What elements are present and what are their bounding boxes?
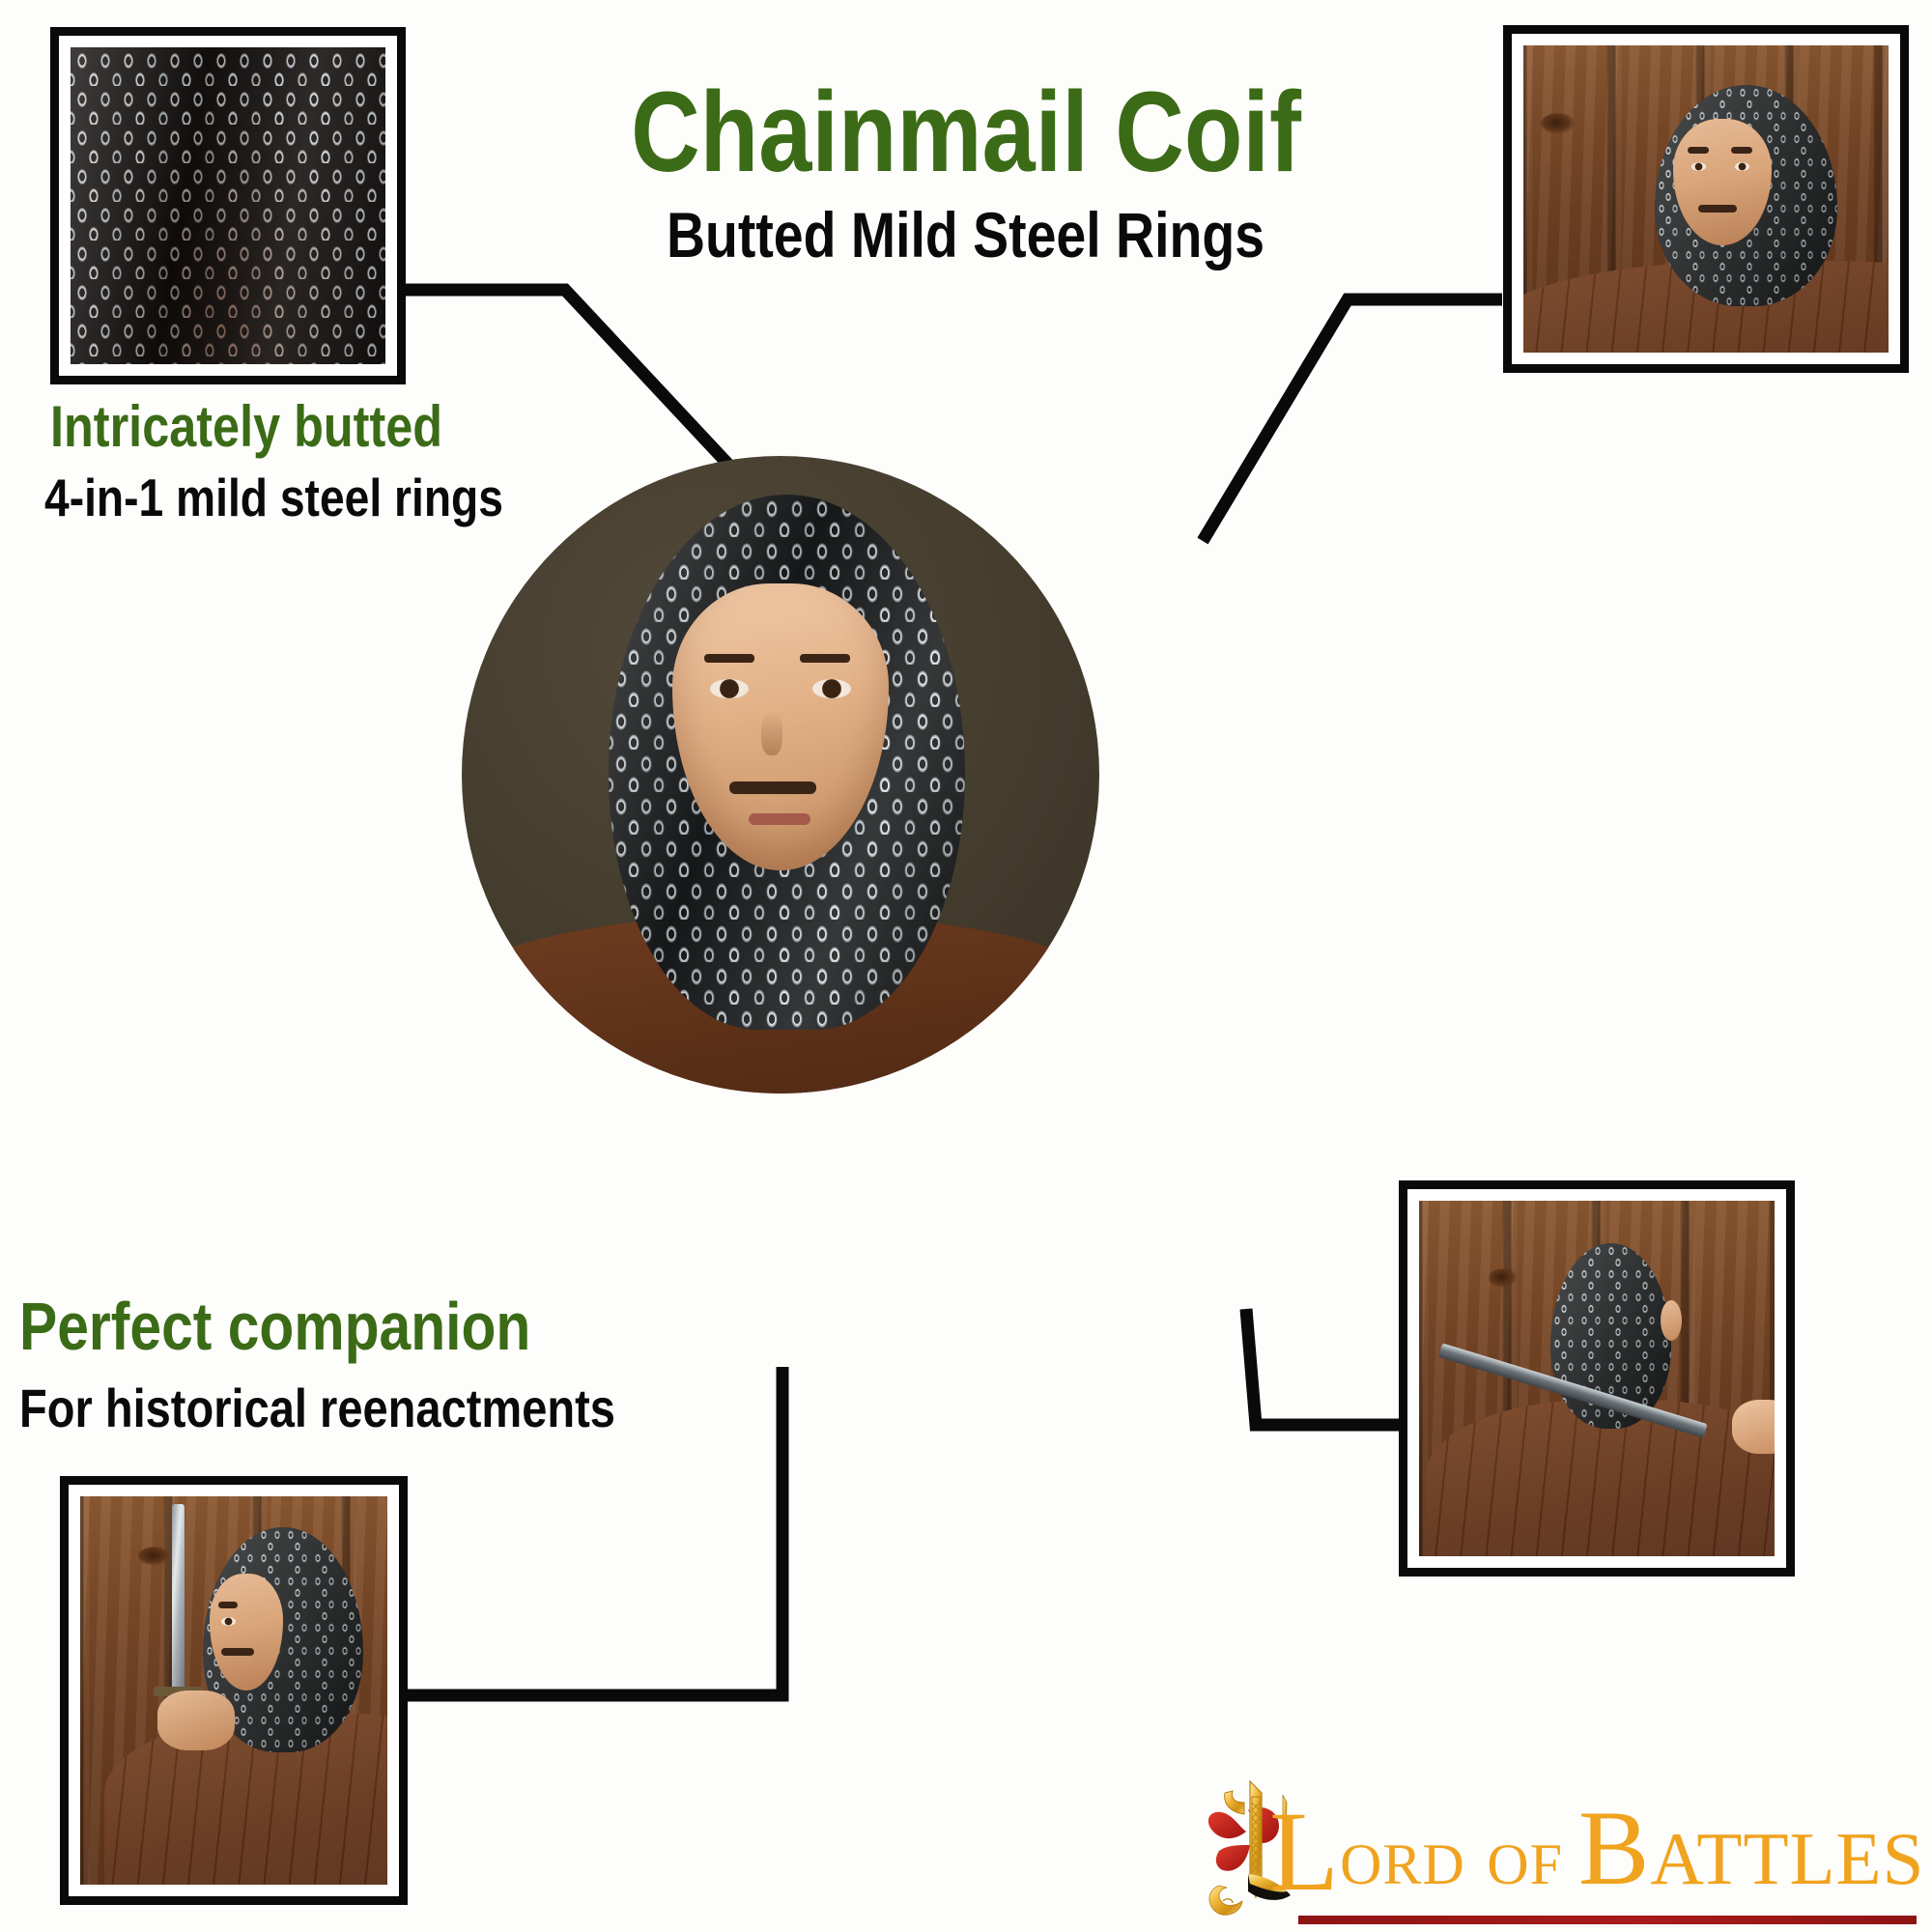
eyebrow-right	[1731, 147, 1752, 154]
callout-image-frame-intricately-butted	[50, 27, 406, 384]
reenactor-rear-view-with-sword	[1419, 1201, 1775, 1556]
logo-word-two: Battles	[1578, 1789, 1924, 1907]
photo-matte	[1512, 34, 1900, 364]
eye-left	[1691, 162, 1706, 171]
callout-subheading-perfect-companion: For historical reenactments	[19, 1381, 728, 1435]
logo-word-one: ord of	[1340, 1809, 1563, 1902]
callout-heading-intricately-butted: Intricately butted	[50, 398, 517, 456]
photo-matte	[69, 1485, 399, 1896]
sword-hand	[1732, 1400, 1775, 1454]
callout-heading-technically-devised: Technically devised	[1918, 1690, 1932, 1756]
logo-lead-letter: L	[1269, 1788, 1340, 1915]
photo-matte	[1407, 1189, 1786, 1568]
chainmail-texture	[71, 47, 385, 364]
callout-subheading-text: 4-in-1 mild steel rings	[44, 471, 503, 525]
hero-eyebrow-left	[704, 654, 754, 663]
logo-wordmark: Lord ofBattles	[1269, 1795, 1924, 1909]
connector-top-right	[1203, 299, 1502, 541]
moustache	[1698, 205, 1737, 213]
page-subtitle: Butted Mild Steel Rings	[386, 203, 1546, 267]
wood-knot	[138, 1547, 171, 1566]
eyebrow-left	[218, 1602, 238, 1608]
callout-subheading-text: For historical reenactments	[19, 1381, 615, 1435]
page-title-text: Chainmail Coif	[631, 75, 1301, 189]
reenactor-with-raised-sword	[80, 1496, 387, 1885]
connector-bottom-right	[1246, 1309, 1406, 1425]
callout-subheading-intricately-butted: 4-in-1 mild steel rings	[44, 471, 590, 525]
wood-knot	[1489, 1268, 1518, 1288]
callout-heading-text: Perfect companion	[19, 1293, 530, 1360]
sword-hand	[157, 1690, 235, 1750]
hero-mouth	[749, 813, 810, 825]
photo-matte	[59, 36, 397, 376]
callout-image-frame-perfect-companion	[60, 1476, 408, 1905]
callout-heading-great-look: Great look	[1911, 404, 1932, 471]
page-subtitle-text: Butted Mild Steel Rings	[667, 203, 1264, 267]
page-title: Chainmail Coif	[386, 75, 1546, 189]
chainmail-weave-swatch	[71, 47, 385, 364]
eyebrow-left	[1688, 147, 1709, 154]
callout-heading-perfect-companion: Perfect companion	[19, 1293, 628, 1360]
chainmail-lighting	[71, 47, 385, 364]
callout-heading-text: Intricately butted	[50, 398, 442, 456]
hero-eye-right	[812, 679, 851, 698]
eye-left	[221, 1617, 236, 1626]
hero-moustache	[729, 781, 816, 794]
reenactor-front-portrait	[1523, 45, 1889, 353]
brand-logo[interactable]: Lord ofBattles	[1190, 1777, 1924, 1932]
sword-blade	[172, 1504, 185, 1690]
hero-nose	[761, 711, 782, 755]
hero-product-photo	[462, 456, 1099, 1094]
eye-right	[1735, 162, 1749, 171]
infographic-canvas: Chainmail Coif Butted Mild Steel Rings I…	[0, 0, 1932, 1932]
callout-image-frame-great-look	[1503, 25, 1909, 373]
wood-knot	[1541, 113, 1576, 134]
hero-eyebrow-right	[800, 654, 850, 663]
callout-subheading-great-look: Of the middle ages	[1911, 491, 1932, 545]
logo-underline-rule	[1298, 1916, 1917, 1924]
callout-image-frame-technically-devised	[1399, 1180, 1795, 1577]
moustache	[221, 1648, 254, 1656]
